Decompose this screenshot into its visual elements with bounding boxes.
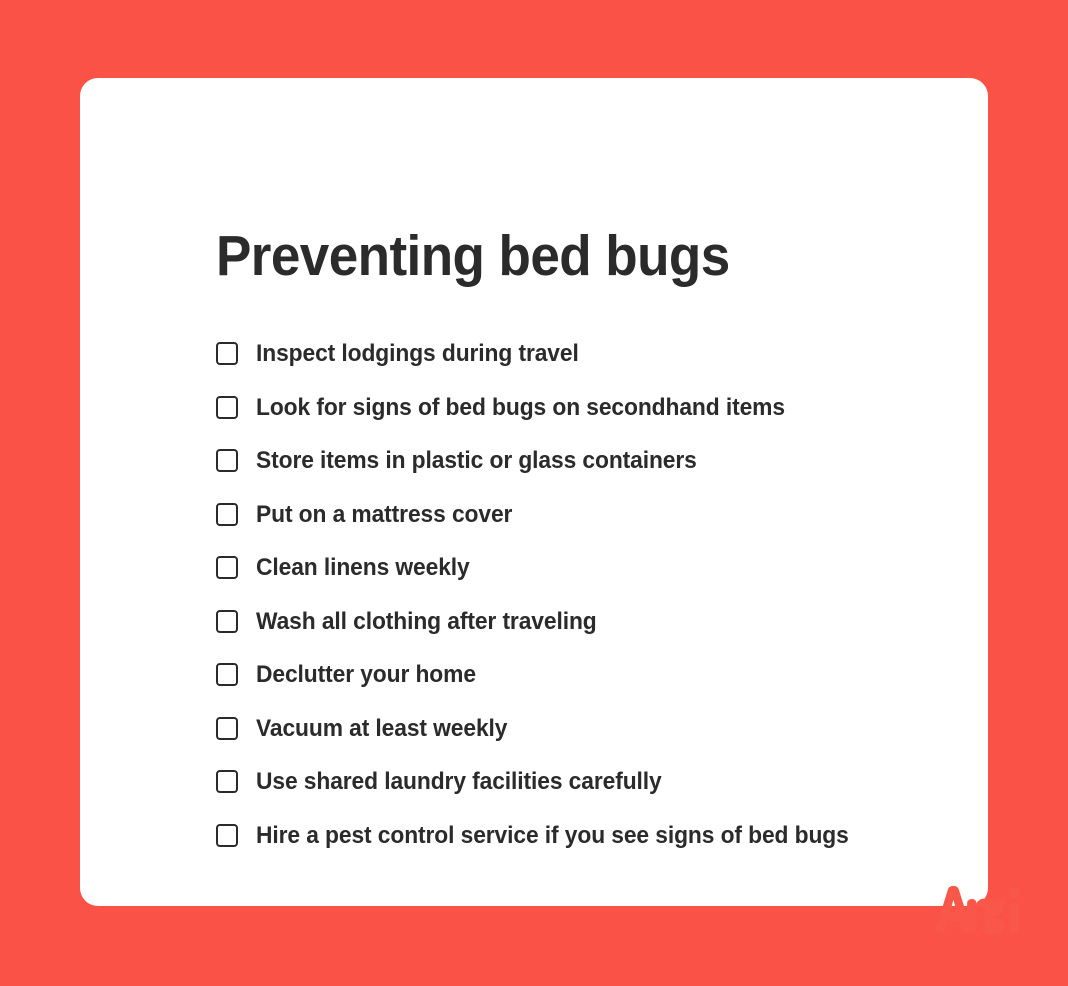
checklist-item[interactable]: Wash all clothing after traveling — [216, 595, 1036, 649]
checklist: Inspect lodgings during travelLook for s… — [216, 327, 1036, 862]
checklist-item[interactable]: Vacuum at least weekly — [216, 702, 1036, 756]
checklist-item[interactable]: Clean linens weekly — [216, 541, 1036, 595]
checkbox-icon[interactable] — [216, 663, 238, 686]
checklist-item-label: Inspect lodgings during travel — [256, 341, 579, 366]
checklist-item[interactable]: Put on a mattress cover — [216, 488, 1036, 542]
checkbox-icon[interactable] — [216, 342, 238, 365]
checklist-item-label: Put on a mattress cover — [256, 502, 512, 527]
checkbox-icon[interactable] — [216, 770, 238, 793]
checklist-item-label: Vacuum at least weekly — [256, 716, 507, 741]
checkbox-icon[interactable] — [216, 449, 238, 472]
checklist-item-label: Use shared laundry facilities carefully — [256, 769, 662, 794]
checklist-item-label: Clean linens weekly — [256, 555, 470, 580]
angi-logo — [932, 883, 1022, 941]
checkbox-icon[interactable] — [216, 824, 238, 847]
page-title: Preventing bed bugs — [216, 228, 730, 285]
checklist-item-label: Hire a pest control service if you see s… — [256, 823, 849, 848]
infographic-canvas: Preventing bed bugs Inspect lodgings dur… — [0, 0, 1068, 986]
checkbox-icon[interactable] — [216, 610, 238, 633]
checklist-item-label: Declutter your home — [256, 662, 476, 687]
checklist-card: Preventing bed bugs Inspect lodgings dur… — [80, 78, 988, 906]
checkbox-icon[interactable] — [216, 396, 238, 419]
checklist-item[interactable]: Inspect lodgings during travel — [216, 327, 1036, 381]
checklist-item[interactable]: Hire a pest control service if you see s… — [216, 809, 1036, 863]
checklist-item-label: Wash all clothing after traveling — [256, 609, 597, 634]
checkbox-icon[interactable] — [216, 503, 238, 526]
checklist-item[interactable]: Look for signs of bed bugs on secondhand… — [216, 381, 1036, 435]
checkbox-icon[interactable] — [216, 556, 238, 579]
checklist-item-label: Look for signs of bed bugs on secondhand… — [256, 395, 785, 420]
checklist-item[interactable]: Use shared laundry facilities carefully — [216, 755, 1036, 809]
checklist-item-label: Store items in plastic or glass containe… — [256, 448, 697, 473]
checkbox-icon[interactable] — [216, 717, 238, 740]
checklist-item[interactable]: Declutter your home — [216, 648, 1036, 702]
checklist-item[interactable]: Store items in plastic or glass containe… — [216, 434, 1036, 488]
